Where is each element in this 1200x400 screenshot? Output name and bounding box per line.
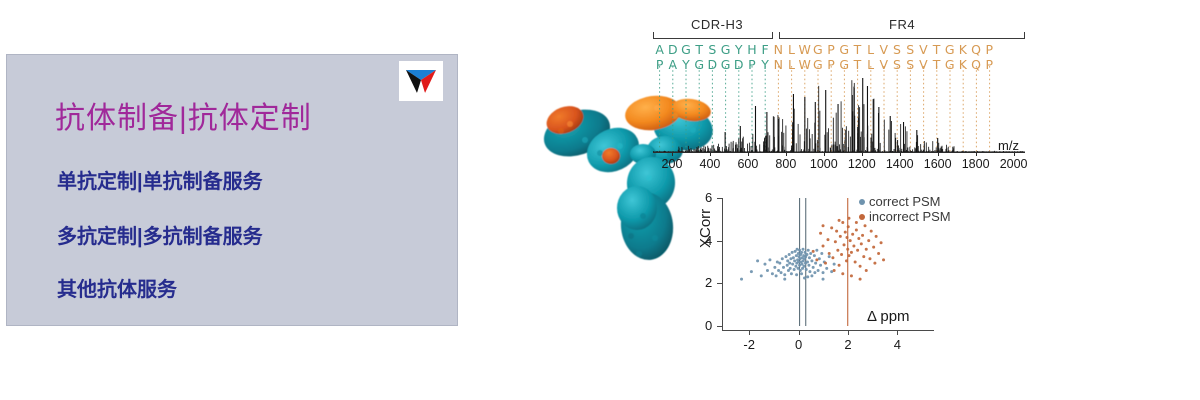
spectrum-tick-label: 400: [700, 157, 721, 171]
spectrum-tick-label: 1200: [848, 157, 876, 171]
scatter-y-tick: [717, 241, 722, 242]
legend-item[interactable]: incorrect PSM: [859, 209, 951, 224]
chevron-logo-icon: [404, 66, 438, 96]
spectrum-axis-line: [653, 152, 1025, 153]
psm-scatter-plot: XCorr Δ ppm correct PSMincorrect PSM 024…: [687, 190, 947, 365]
sequence-residue: N: [772, 42, 785, 57]
spectrum-tick: [748, 152, 749, 156]
sequence-residue: T: [693, 42, 706, 57]
scatter-y-tick: [717, 283, 722, 284]
sequence-residue: A: [653, 42, 666, 57]
sequence-residue: P: [983, 42, 996, 57]
sequence-residue: G: [811, 42, 824, 57]
sequence-top-fr4: NLWGPGTLVSSVTGKQP: [772, 42, 996, 57]
sequence-residue: V: [877, 42, 890, 57]
scatter-x-axis-line: [722, 330, 934, 331]
spectrum-peaks: [653, 72, 1025, 152]
spectrum-tick-label: 1600: [924, 157, 952, 171]
sequence-residue: T: [930, 42, 943, 57]
spectrum-tick: [976, 152, 977, 156]
bracket-tick-mid-b: [779, 32, 780, 39]
scatter-y-tick-label: 6: [705, 190, 712, 205]
sequence-residue: G: [838, 42, 851, 57]
sequence-residue: P: [824, 42, 837, 57]
sequence-top-cdr: ADGTSGYHF: [653, 42, 772, 57]
sequence-residue: G: [679, 42, 692, 57]
spectrum-tick-label: 200: [662, 157, 683, 171]
sequence-residue: Y: [732, 42, 745, 57]
sequence-residue: G: [943, 42, 956, 57]
sequence-residue: K: [956, 42, 969, 57]
company-logo: [399, 61, 443, 101]
sequence-residue: V: [917, 42, 930, 57]
spectrum-tick-label: 1400: [886, 157, 914, 171]
scatter-y-tick-label: 2: [705, 275, 712, 290]
scatter-legend: correct PSMincorrect PSM: [859, 194, 951, 224]
scatter-x-tick-label: 0: [795, 337, 802, 352]
spectrum-axis-label: m/z: [998, 138, 1019, 153]
spectrum-tick: [710, 152, 711, 156]
sequence-residue: H: [745, 42, 758, 57]
spectrum-tick: [862, 152, 863, 156]
page-title: 抗体制备|抗体定制: [55, 93, 312, 137]
scatter-x-tick: [897, 330, 898, 335]
legend-item[interactable]: correct PSM: [859, 194, 951, 209]
sequence-row-top: ADGTSGYHFNLWGPGTLVSSVTGKQP: [653, 42, 1025, 57]
sequence-residue: L: [864, 42, 877, 57]
bracket-line-fr4: [779, 38, 1025, 39]
service-link-monoclonal[interactable]: 单抗定制|单抗制备服务: [57, 165, 263, 194]
scatter-x-tick: [799, 330, 800, 335]
legend-label: correct PSM: [869, 194, 941, 209]
sequence-residue: S: [904, 42, 917, 57]
antibody-service-panel: 抗体制备|抗体定制 单抗定制|单抗制备服务 多抗定制|多抗制备服务 其他抗体服务: [6, 54, 458, 326]
spectrum-tick-label: 800: [775, 157, 796, 171]
scatter-x-tick-label: -2: [743, 337, 755, 352]
spectrum-tick: [938, 152, 939, 156]
scatter-y-tick: [717, 198, 722, 199]
scatter-y-tick: [717, 326, 722, 327]
spectrum-tick-label: 1800: [962, 157, 990, 171]
spectrum-tick-label: 2000: [1000, 157, 1028, 171]
bracket-line-cdr: [653, 38, 773, 39]
sequence-residue: Q: [970, 42, 983, 57]
sequence-residue: L: [785, 42, 798, 57]
scatter-x-tick-label: 4: [894, 337, 901, 352]
bracket-tick-start: [653, 32, 654, 39]
sequence-residue: S: [890, 42, 903, 57]
service-link-other[interactable]: 其他抗体服务: [57, 273, 177, 302]
spectrum-tick: [824, 152, 825, 156]
legend-dot-icon: [859, 214, 865, 220]
region-label-fr4: FR4: [889, 17, 915, 32]
peptide-sequence-block: CDR-H3 FR4 ADGTSGYHFNLWGPGTLVSSVTGKQP PA…: [653, 18, 1025, 72]
antibody-sequencing-figure: CDR-H3 FR4 ADGTSGYHFNLWGPGTLVSSVTGKQP PA…: [505, 0, 1065, 400]
sequence-residue: W: [798, 42, 811, 57]
spectrum-x-axis: 200400600800100012001400160018002000: [653, 152, 1025, 178]
sequence-residue: S: [706, 42, 719, 57]
spectrum-tick: [900, 152, 901, 156]
legend-dot-icon: [859, 199, 865, 205]
region-label-cdr-h3: CDR-H3: [691, 17, 743, 32]
spectrum-tick-label: 1000: [810, 157, 838, 171]
scatter-x-tick: [848, 330, 849, 335]
sequence-residue: T: [851, 42, 864, 57]
spectrum-tick-label: 600: [737, 157, 758, 171]
spectrum-tick: [786, 152, 787, 156]
mass-spectrum: [653, 66, 1025, 158]
region-bracket-row: CDR-H3 FR4: [653, 18, 1025, 42]
bracket-tick-end: [1024, 32, 1025, 39]
sequence-residue: D: [666, 42, 679, 57]
scatter-y-tick-label: 4: [705, 233, 712, 248]
service-link-polyclonal[interactable]: 多抗定制|多抗制备服务: [57, 220, 263, 249]
scatter-y-tick-label: 0: [705, 318, 712, 333]
bracket-tick-mid-a: [772, 32, 773, 39]
sequence-residue: F: [759, 42, 772, 57]
sequence-residue: G: [719, 42, 732, 57]
legend-label: incorrect PSM: [869, 209, 951, 224]
scatter-x-tick: [749, 330, 750, 335]
spectrum-tick: [672, 152, 673, 156]
scatter-x-tick-label: 2: [844, 337, 851, 352]
